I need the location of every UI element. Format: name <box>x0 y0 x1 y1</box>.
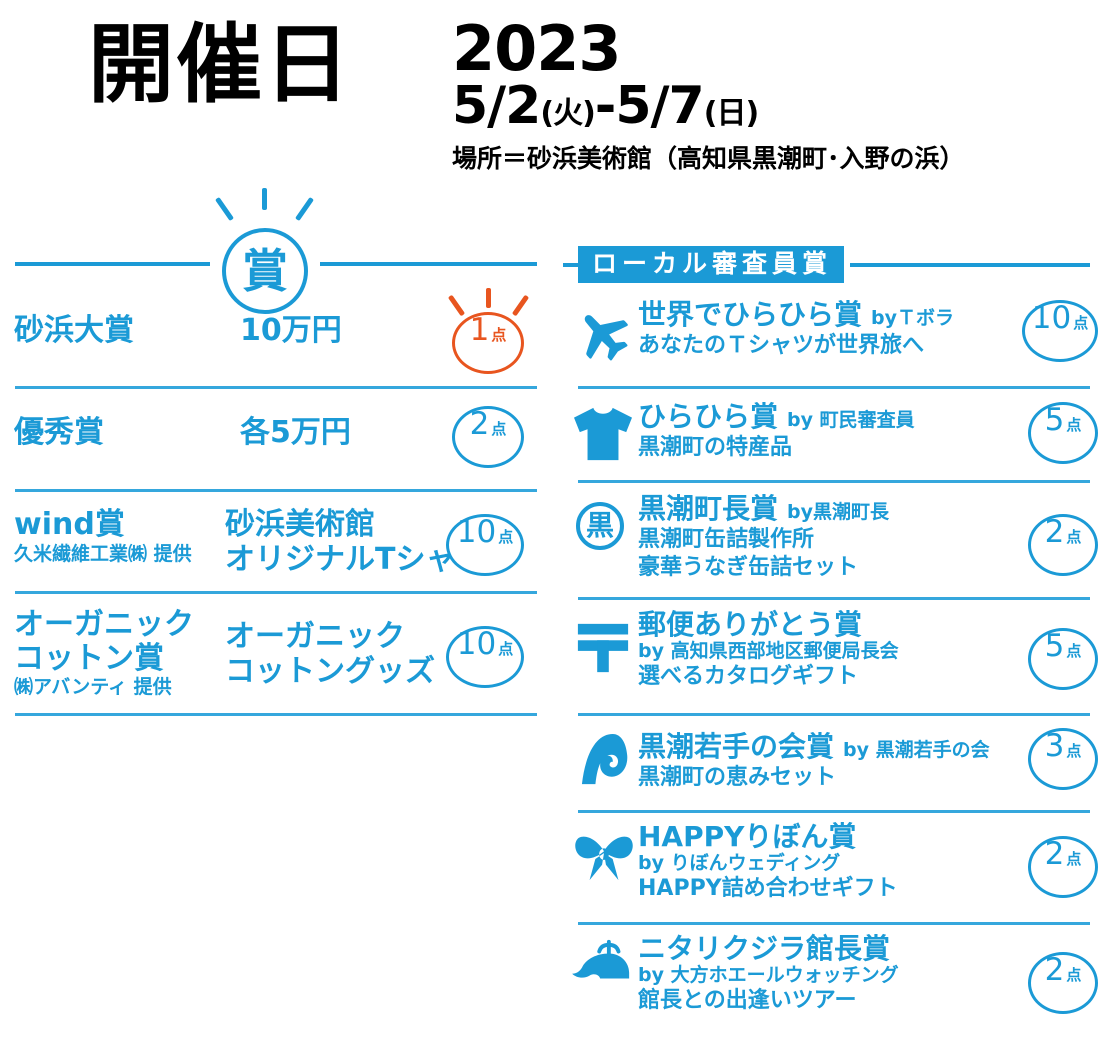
point-badge: 5 点 <box>1028 402 1098 464</box>
ray-right <box>512 295 529 317</box>
ray-right <box>295 197 314 221</box>
left-rule-top-a <box>15 262 210 266</box>
event-header: 開催日 2023 5/2(火)-5/7(日) 場所＝砂浜美術館（高知県黒潮町･入… <box>0 0 1104 182</box>
wave-icon <box>580 732 632 793</box>
right-rule-top-a <box>563 263 579 267</box>
prize-by: by 町民審査員 <box>787 410 915 431</box>
prize-by: by 大方ホエールウォッチング <box>638 965 899 986</box>
point-badge: 2 点 <box>452 406 524 468</box>
right-divider-4 <box>578 713 1090 716</box>
prize-row-left-4: オーガニック コットン賞 ㈱アバンティ 提供 オーガニック コットングッズ 10… <box>0 600 540 710</box>
page-title: 開催日 <box>88 22 352 108</box>
point-badge: 10 点 <box>446 514 524 576</box>
point-badge: 2 点 <box>1028 952 1098 1014</box>
ray-left <box>448 295 465 317</box>
kuro-circle-icon: 黒 <box>576 502 624 550</box>
prize-row-right-2: ひらひら賞 by 町民審査員 黒潮町の特産品 5 点 <box>566 394 1096 482</box>
prize-row-left-2: 優秀賞 各5万円 2 点 <box>0 398 540 486</box>
poster-page: 開催日 2023 5/2(火)-5/7(日) 場所＝砂浜美術館（高知県黒潮町･入… <box>0 0 1104 1050</box>
right-divider-3 <box>578 597 1090 600</box>
right-divider-6 <box>578 922 1090 925</box>
point-badge: 10 点 <box>1022 300 1098 362</box>
left-divider-2 <box>15 489 537 492</box>
prize-name: wind賞 久米繊維工業㈱ 提供 <box>14 508 192 565</box>
prize-sponsor: 久米繊維工業㈱ 提供 <box>14 544 192 565</box>
point-badge: 3 点 <box>1028 728 1098 790</box>
prize-desc: 黒潮町の特産品 <box>638 435 915 461</box>
prize-title: 世界でひらひら賞 <box>638 300 862 331</box>
right-divider-2 <box>578 480 1090 483</box>
prize-row-right-1: 世界でひらひら賞 byＴボラ あなたのＴシャツが世界旅へ 10 点 <box>566 288 1096 382</box>
prize-name: 優秀賞 <box>14 416 104 450</box>
left-divider-1 <box>15 386 537 389</box>
right-divider-1 <box>578 386 1090 389</box>
date-dash: - <box>595 76 616 136</box>
prize-title: 黒潮町長賞 <box>638 494 778 525</box>
point-badge: 2 点 <box>1028 836 1098 898</box>
airplane-icon <box>574 306 632 369</box>
prize-title-row: 黒潮若手の会賞 by 黒潮若手の会 <box>638 732 990 763</box>
tshirt-icon <box>572 406 634 469</box>
right-divider-5 <box>578 810 1090 813</box>
point-badge: 2 点 <box>1028 514 1098 576</box>
point-badge: 1 点 <box>452 312 524 374</box>
prize-row-right-7: ニタリクジラ館長賞 by 大方ホエールウォッチング 館長との出逢いツアー 2 点 <box>566 930 1096 1034</box>
left-divider-3 <box>15 591 537 594</box>
prize-row-left-3: wind賞 久米繊維工業㈱ 提供 砂浜美術館 オリジナルTシャツ 10 点 <box>0 500 540 592</box>
prize-text: HAPPYりぼん賞 by りぼんウェディング HAPPY詰め合わせギフト <box>638 822 898 902</box>
prize-value: オーガニック コットングッズ <box>225 620 435 689</box>
prize-value: 各5万円 <box>240 416 351 451</box>
prize-by: by りぼんウェディング <box>638 853 898 874</box>
prize-title-row: 黒潮町長賞 by黒潮町長 <box>638 494 889 525</box>
prize-desc: 黒潮町の恵みセット <box>638 765 990 791</box>
kuro-circle-label: 黒 <box>576 502 624 550</box>
prize-text: ひらひら賞 by 町民審査員 黒潮町の特産品 <box>638 402 915 461</box>
prize-title: ひらひら賞 <box>638 402 778 433</box>
date-start: 5/2 <box>452 76 540 136</box>
prize-row-right-5: 黒潮若手の会賞 by 黒潮若手の会 黒潮町の恵みセット 3 点 <box>566 722 1096 808</box>
point-badge: 10 点 <box>446 626 524 688</box>
prize-title-row: ひらひら賞 by 町民審査員 <box>638 402 915 433</box>
ribbon-icon <box>574 832 634 889</box>
ray-center <box>262 188 267 210</box>
prize-text: 黒潮若手の会賞 by 黒潮若手の会 黒潮町の恵みセット <box>638 732 990 791</box>
prize-title-row: 世界でひらひら賞 byＴボラ <box>638 300 954 331</box>
ray-center <box>486 288 491 308</box>
prize-name: 砂浜大賞 <box>14 314 134 348</box>
event-venue: 場所＝砂浜美術館（高知県黒潮町･入野の浜） <box>452 146 965 171</box>
prize-desc: 黒潮町缶詰製作所 <box>638 527 889 553</box>
prize-name: オーガニック コットン賞 ㈱アバンティ 提供 <box>14 608 194 698</box>
prize-by: by 高知県西部地区郵便局長会 <box>638 641 899 662</box>
prize-title: 郵便ありがとう賞 <box>638 610 899 641</box>
left-divider-4 <box>15 713 537 716</box>
date-start-weekday: (火) <box>540 96 594 131</box>
event-year: 2023 <box>452 18 621 80</box>
prize-desc: あなたのＴシャツが世界旅へ <box>638 333 954 359</box>
prize-title: ニタリクジラ館長賞 <box>638 934 899 965</box>
prize-desc: 豪華うなぎ缶詰セット <box>638 555 889 581</box>
prize-sponsor: ㈱アバンティ 提供 <box>14 677 194 698</box>
whale-icon <box>570 938 640 999</box>
point-badge: 5 点 <box>1028 628 1098 690</box>
date-end-weekday: (日) <box>704 96 758 131</box>
section-title-badge: ローカル審査員賞 <box>578 246 844 283</box>
prize-text: 世界でひらひら賞 byＴボラ あなたのＴシャツが世界旅へ <box>638 300 954 359</box>
prize-desc: 館長との出逢いツアー <box>638 988 899 1014</box>
right-rule-top-b <box>850 263 1090 267</box>
left-rule-top-b <box>320 262 537 266</box>
prize-row-right-3: 黒 黒潮町長賞 by黒潮町長 黒潮町缶詰製作所 豪華うなぎ缶詰セット 2 点 <box>566 488 1096 596</box>
prize-desc: HAPPY詰め合わせギフト <box>638 876 898 902</box>
prize-by: byＴボラ <box>871 308 954 329</box>
prize-by: by 黒潮若手の会 <box>843 740 990 761</box>
medallion-label: 賞 <box>242 248 288 294</box>
prize-title: HAPPYりぼん賞 <box>638 822 898 853</box>
prize-title: 黒潮若手の会賞 <box>638 732 834 763</box>
prize-row-right-6: HAPPYりぼん賞 by りぼんウェディング HAPPY詰め合わせギフト 2 点 <box>566 818 1096 920</box>
prize-desc: 選べるカタログギフト <box>638 664 899 690</box>
prize-value: 10万円 <box>240 314 342 349</box>
prize-by: by黒潮町長 <box>787 502 889 523</box>
ray-left <box>215 197 234 221</box>
prize-row-right-4: 郵便ありがとう賞 by 高知県西部地区郵便局長会 選べるカタログギフト 5 点 <box>566 606 1096 710</box>
prize-text: 黒潮町長賞 by黒潮町長 黒潮町缶詰製作所 豪華うなぎ缶詰セット <box>638 494 889 581</box>
event-date-range: 5/2(火)-5/7(日) <box>452 80 758 132</box>
date-end: 5/7 <box>615 76 703 136</box>
prize-row-left-1: 砂浜大賞 10万円 1 点 <box>0 300 540 384</box>
postal-mark-icon <box>574 620 632 681</box>
prize-text: 郵便ありがとう賞 by 高知県西部地区郵便局長会 選べるカタログギフト <box>638 610 899 690</box>
prize-text: ニタリクジラ館長賞 by 大方ホエールウォッチング 館長との出逢いツアー <box>638 934 899 1014</box>
